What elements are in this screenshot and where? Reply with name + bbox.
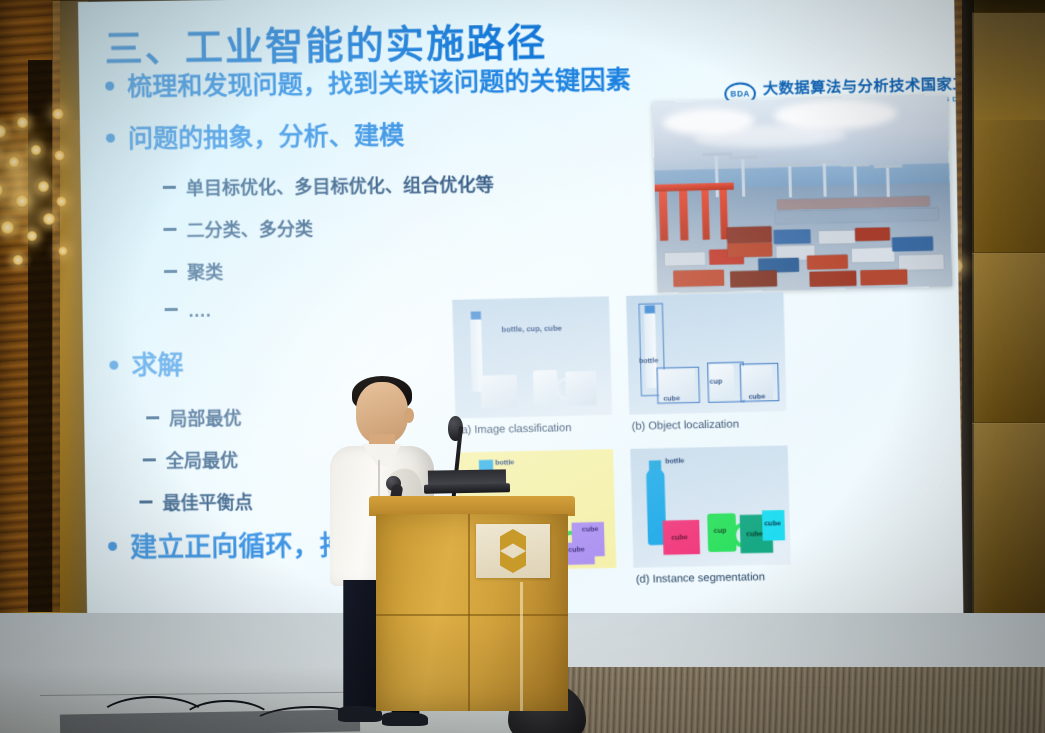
container — [852, 247, 895, 262]
red-crane — [659, 190, 668, 241]
bullet-text: 求解 — [131, 350, 184, 381]
bullet-text: 最佳平衡点 — [162, 493, 253, 514]
chandelier-bulb — [30, 144, 42, 156]
cv-panel-b-image: bottle cube cup cube — [626, 292, 787, 414]
chandelier-bulb — [37, 180, 50, 193]
wall-panel-right-b — [972, 252, 1045, 424]
container — [730, 270, 777, 287]
container — [818, 230, 855, 244]
conference-photo-scene: 三、工业智能的实施路径 BDA 大数据算法与分析技术国家工程实验室 NATION… — [0, 0, 1045, 733]
container-port-photo — [652, 94, 952, 293]
bullet-dash-icon — [165, 308, 178, 311]
container — [665, 252, 706, 266]
container — [727, 226, 772, 243]
cv-tag: bottle, cup, cube — [501, 324, 561, 334]
bullet-dot-icon — [106, 133, 115, 142]
bullet-level2: 二分类、多分类 — [163, 215, 313, 243]
speaker-shirt-placket — [378, 460, 380, 500]
cv-panel-d: bottle cube cup cube cube (d) Instance s… — [630, 445, 791, 594]
wall-panel-right-c — [972, 422, 1045, 624]
container — [809, 271, 856, 287]
emblem-upper — [500, 529, 526, 551]
chandelier-bulb — [16, 116, 29, 129]
cube-object — [565, 371, 596, 406]
bullet-text: 二分类、多分类 — [186, 219, 313, 241]
bullet-text: 局部最优 — [169, 408, 241, 429]
chandelier-bulb — [8, 156, 20, 168]
wall-sconce — [52, 108, 64, 120]
cv-panel-d-image: bottle cube cup cube cube — [630, 445, 791, 567]
cv-tag: cup — [710, 378, 723, 385]
bullet-level2: 聚类 — [164, 258, 224, 285]
cv-panel-a: bottle, cup, cube (a) Image classificati… — [452, 296, 613, 445]
container — [727, 242, 772, 257]
wall-sconce — [56, 196, 67, 207]
cv-tag: cube — [749, 393, 766, 400]
cv-panel-b-caption: (b) Object localization — [632, 418, 740, 432]
podium-top — [369, 496, 575, 516]
cv-tag: bottle — [665, 458, 685, 465]
speaker-shoe — [382, 712, 428, 726]
cube-object — [481, 375, 518, 408]
bullet-dash-icon — [164, 270, 177, 273]
chandelier-bulb — [0, 220, 15, 235]
chandelier-bulb — [12, 254, 24, 266]
wall-sconce — [58, 246, 68, 256]
red-crane — [679, 186, 689, 241]
bullet-text: 建立正向循环，持 — [130, 531, 347, 563]
emblem-lower — [500, 551, 526, 573]
chandelier-bulb — [15, 194, 29, 208]
bullet-dash-icon — [163, 186, 176, 189]
podium-seam — [376, 614, 568, 616]
bullet-level1: 求解 — [109, 345, 184, 383]
cup-object — [533, 370, 558, 405]
bullet-level2: 局部最优 — [146, 404, 242, 431]
chandelier-bulb — [42, 212, 56, 226]
cv-tag: bottle — [639, 358, 659, 365]
bullet-level2: …. — [165, 301, 211, 323]
bullet-level2: 最佳平衡点 — [139, 489, 253, 516]
cv-panel-a-image: bottle, cup, cube — [452, 296, 612, 418]
chandelier — [0, 96, 78, 286]
cv-panel-b: bottle cube cup cube (b) Object localiza… — [626, 292, 787, 442]
container — [892, 236, 933, 251]
cv-tag: cube — [764, 520, 781, 527]
bullet-dot-icon — [105, 81, 114, 90]
cv-panel-a-caption: (a) Image classification — [458, 422, 572, 437]
bullet-text: 问题的抽象，分析、建模 — [128, 122, 405, 154]
container — [673, 270, 724, 287]
wall-panel-right-a — [972, 12, 1045, 254]
bullet-level1: 梳理和发现问题，找到关联该问题的关键因素 — [105, 60, 631, 103]
bullet-dot-icon — [108, 542, 117, 551]
laptop-base — [424, 483, 510, 493]
bullet-level1: 建立正向循环，持 — [108, 524, 347, 565]
cv-tag: bottle — [495, 459, 514, 466]
red-crane — [701, 189, 709, 240]
bullet-text: 全局最优 — [166, 451, 238, 472]
bullet-level2: 全局最优 — [143, 447, 239, 474]
container — [807, 255, 848, 270]
bullet-level2: 单目标优化、多目标优化、组合优化等 — [163, 171, 494, 201]
cv-tag: cube — [746, 531, 763, 538]
podium-emblem-icon — [500, 529, 526, 573]
bullet-level1: 问题的抽象，分析、建模 — [106, 116, 405, 156]
bullet-text: 梳理和发现问题，找到关联该问题的关键因素 — [127, 66, 631, 101]
cv-tag: cube — [671, 534, 688, 541]
bullet-dash-icon — [146, 417, 159, 420]
bullet-dash-icon — [139, 501, 152, 504]
container — [774, 229, 811, 244]
bullet-text: 聚类 — [187, 262, 223, 282]
chandelier-bulb — [26, 230, 38, 242]
cv-tag: cup — [714, 527, 727, 534]
podium-highlight — [520, 582, 523, 711]
bullet-text: …. — [188, 301, 211, 321]
carpet — [520, 667, 1045, 733]
wall-sconce — [54, 150, 65, 161]
bullet-text: 单目标优化、多目标优化、组合优化等 — [186, 175, 494, 199]
chandelier-glow — [0, 116, 62, 266]
container — [855, 227, 890, 241]
bullet-dash-icon — [143, 459, 156, 462]
container — [860, 269, 907, 285]
container — [899, 254, 944, 270]
bullet-dash-icon — [163, 228, 176, 231]
wooden-podium — [372, 496, 572, 711]
cv-panel-d-caption: (d) Instance segmentation — [636, 571, 765, 586]
podium-seam — [468, 514, 470, 711]
cv-tag: cube — [582, 526, 599, 533]
speaker-ear — [404, 408, 414, 423]
bullet-dot-icon — [109, 360, 118, 369]
cv-tag: cube — [663, 395, 680, 402]
